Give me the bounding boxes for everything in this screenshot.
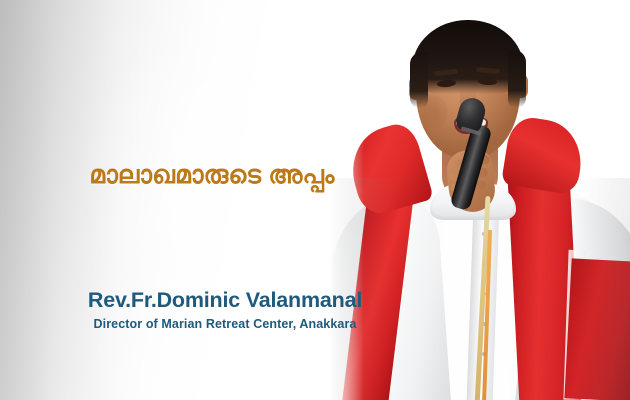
background-left-shade bbox=[0, 0, 120, 400]
speaker-photo bbox=[330, 0, 630, 400]
speaker-role: Director of Marian Retreat Center, Anakk… bbox=[0, 317, 450, 331]
red-stole-far-right bbox=[564, 258, 630, 400]
promo-poster: മാലാഖമാരുടെ അപ്പം Rev.Fr.Dominic Valanma… bbox=[0, 0, 630, 400]
hair-right-side bbox=[508, 50, 526, 108]
red-stole-right-shoulder bbox=[501, 114, 587, 195]
speaker-name: Rev.Fr.Dominic Valanmanal bbox=[0, 288, 450, 313]
cheek-shading bbox=[422, 96, 448, 128]
poster-title-malayalam: മാലാഖമാരുടെ അപ്പം bbox=[0, 160, 424, 191]
